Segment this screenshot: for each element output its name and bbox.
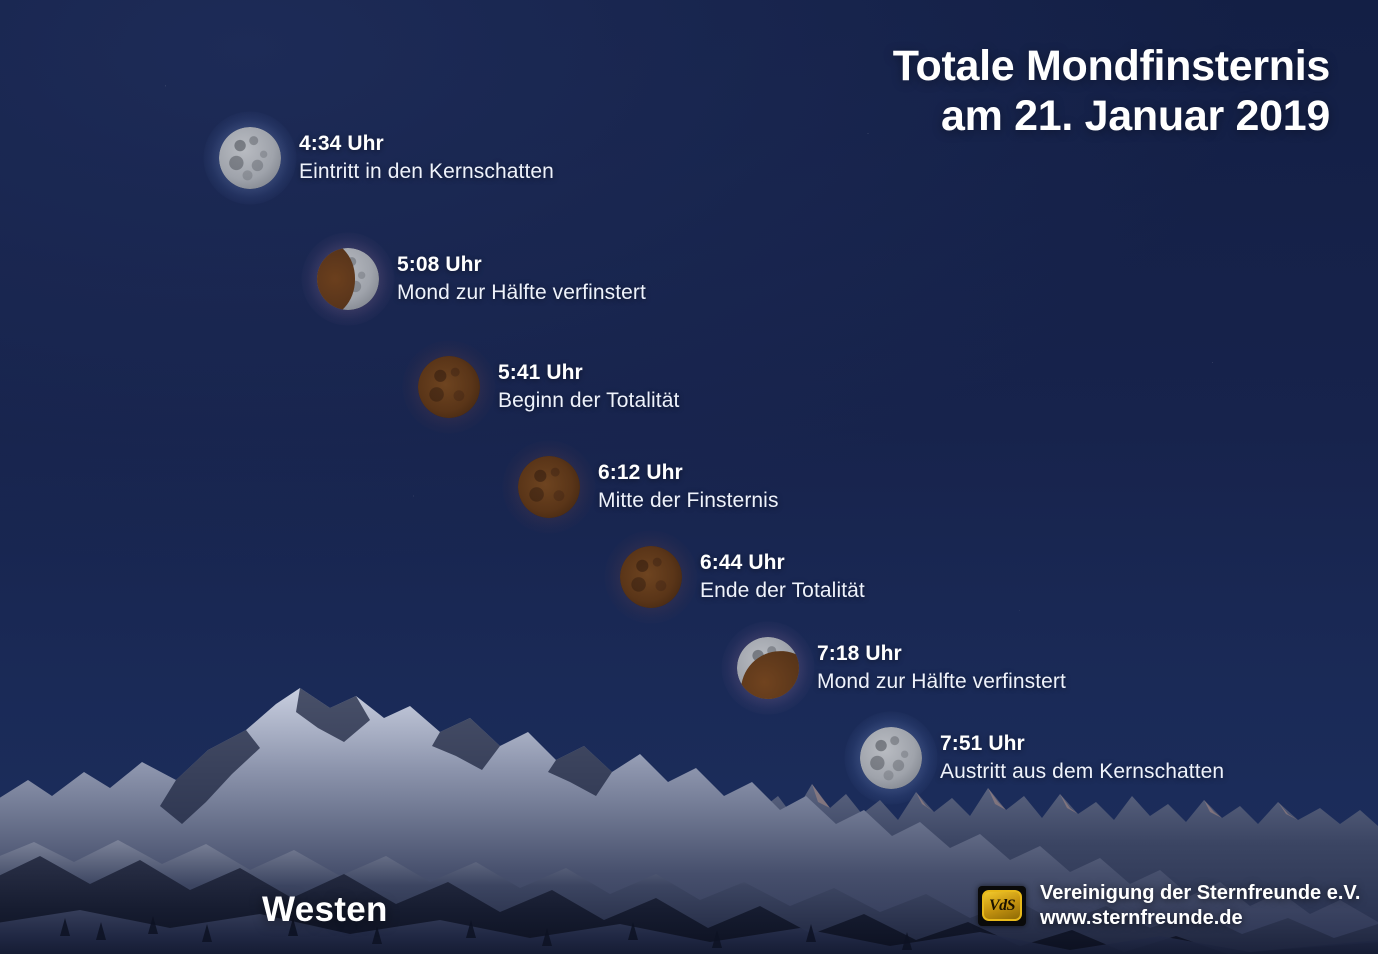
phase-time: 6:12 Uhr [598,460,779,486]
moon-disc [317,248,379,310]
phase-label: 6:12 Uhr Mitte der Finsternis [598,460,779,514]
vds-logo-text: VdS [989,898,1015,914]
moon-disc [737,637,799,699]
phase-description: Mitte der Finsternis [598,488,779,514]
title-line-2: am 21. Januar 2019 [893,92,1330,142]
moon-graphic-full-bright [860,727,922,789]
phase-time: 7:18 Uhr [817,641,1066,667]
alpenglow-highlight [742,784,1298,820]
eclipse-phase-row: 6:44 Uhr Ende der Totalität [620,546,865,608]
moon-graphic-total-red [418,356,480,418]
page-title: Totale Mondfinsternis am 21. Januar 2019 [893,42,1330,142]
phase-time: 7:51 Uhr [940,731,1224,757]
phase-description: Beginn der Totalität [498,388,679,414]
phase-description: Mond zur Hälfte verfinstert [817,669,1066,695]
moon-graphic-total-red [518,456,580,518]
eclipse-phase-row: 7:18 Uhr Mond zur Hälfte verfinstert [737,637,1066,699]
moon-graphic-half-shadow-left [317,248,379,310]
moon-disc [620,546,682,608]
eclipse-phase-row: 4:34 Uhr Eintritt in den Kernschatten [219,127,554,189]
phase-description: Ende der Totalität [700,578,865,604]
moon-surface [317,248,379,310]
credit-text: Vereinigung der Sternfreunde e.V. www.st… [1040,881,1360,930]
moon-disc [418,356,480,418]
direction-label-west: Westen [262,890,388,930]
credit-block[interactable]: VdS Vereinigung der Sternfreunde e.V. ww… [978,881,1360,930]
eclipse-phase-row: 6:12 Uhr Mitte der Finsternis [518,456,779,518]
phase-label: 4:34 Uhr Eintritt in den Kernschatten [299,131,554,185]
moon-surface [860,727,922,789]
moon-disc [518,456,580,518]
phase-description: Eintritt in den Kernschatten [299,159,554,185]
phase-label: 7:18 Uhr Mond zur Hälfte verfinstert [817,641,1066,695]
phase-time: 6:44 Uhr [700,550,865,576]
eclipse-infographic: Totale Mondfinsternis am 21. Januar 2019… [0,0,1378,954]
phase-time: 5:41 Uhr [498,360,679,386]
rock-shadow [160,688,612,824]
phase-label: 5:41 Uhr Beginn der Totalität [498,360,679,414]
phase-label: 5:08 Uhr Mond zur Hälfte verfinstert [397,252,646,306]
moon-surface [418,356,480,418]
moon-surface [737,637,799,699]
eclipse-phase-row: 5:41 Uhr Beginn der Totalität [418,356,679,418]
credit-organisation: Vereinigung der Sternfreunde e.V. [1040,881,1360,905]
phase-time: 4:34 Uhr [299,131,554,157]
credit-website[interactable]: www.sternfreunde.de [1040,906,1360,930]
phase-description: Mond zur Hälfte verfinstert [397,280,646,306]
phase-label: 6:44 Uhr Ende der Totalität [700,550,865,604]
phase-label: 7:51 Uhr Austritt aus dem Kernschatten [940,731,1224,785]
phase-description: Austritt aus dem Kernschatten [940,759,1224,785]
moon-surface [620,546,682,608]
title-line-1: Totale Mondfinsternis [893,42,1330,90]
moon-graphic-full-bright [219,127,281,189]
eclipse-phase-row: 7:51 Uhr Austritt aus dem Kernschatten [860,727,1224,789]
phase-time: 5:08 Uhr [397,252,646,278]
vds-logo-frame: VdS [982,890,1022,921]
moon-disc [219,127,281,189]
tree-line-icon [60,916,912,950]
moon-disc [860,727,922,789]
moon-surface [518,456,580,518]
moon-graphic-total-red [620,546,682,608]
moon-surface [219,127,281,189]
moon-graphic-half-shadow-bottom-right [737,637,799,699]
vds-logo-icon: VdS [978,886,1026,926]
eclipse-phase-row: 5:08 Uhr Mond zur Hälfte verfinstert [317,248,646,310]
